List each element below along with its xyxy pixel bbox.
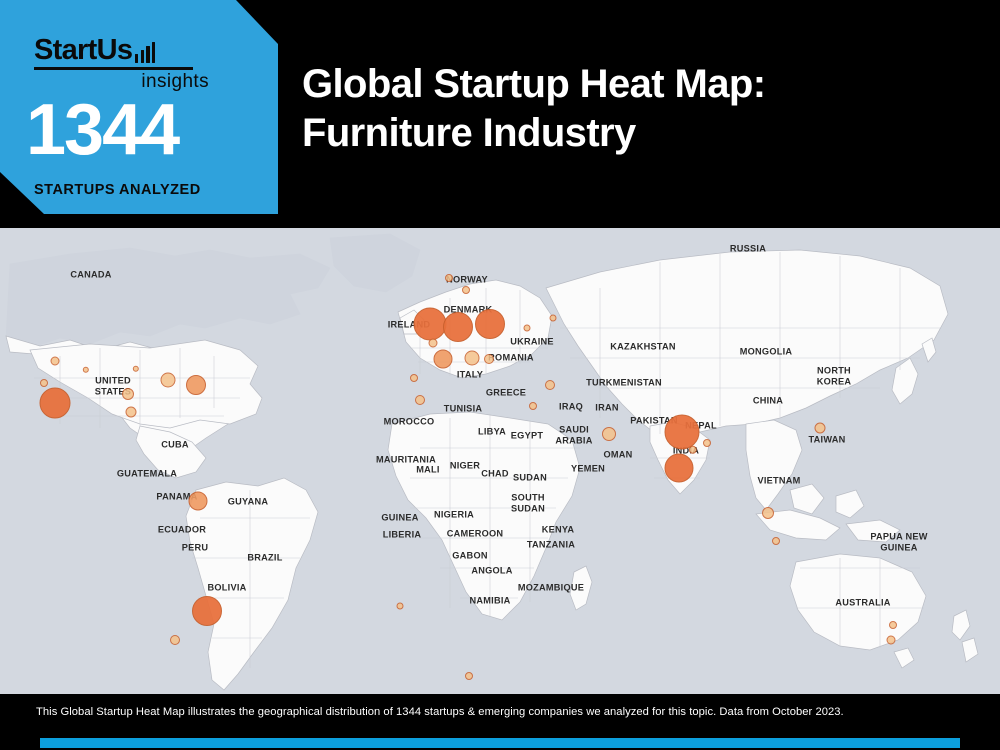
logo-underline-divider: [34, 67, 193, 70]
logo-wordmark: StartUs: [34, 36, 132, 65]
heat-bubble: [815, 423, 826, 434]
heat-bubble: [602, 427, 616, 441]
heat-bubble: [887, 636, 896, 645]
heat-bubble: [524, 325, 531, 332]
heat-bubble: [40, 379, 48, 387]
heat-bubble: [51, 357, 60, 366]
startups-analyzed-label: STARTUPS ANALYZED: [34, 182, 264, 198]
heat-bubble: [465, 672, 473, 680]
heat-bubble: [126, 407, 137, 418]
heatmap-infographic: StartUs insights 1344 STARTUPS ANALYZED …: [0, 0, 1000, 750]
heat-bubble: [889, 621, 897, 629]
startups-analyzed-count: 1344: [26, 96, 266, 164]
heat-bubble: [410, 374, 418, 382]
heat-bubble: [397, 603, 404, 610]
heat-bubble: [445, 274, 453, 282]
heat-bubble: [189, 492, 208, 511]
heat-bubble: [529, 402, 537, 410]
page-title: Global Startup Heat Map:Furniture Indust…: [302, 60, 972, 158]
heat-bubble: [762, 507, 774, 519]
heat-bubble: [122, 388, 134, 400]
heat-bubble: [186, 375, 206, 395]
world-map-vector: [0, 228, 1000, 694]
heat-bubble: [484, 354, 494, 364]
world-heat-map: CANADAUNITEDSTATESCUBAGUATEMALAPANAMAGUY…: [0, 228, 1000, 694]
bar-chart-icon: [135, 45, 155, 65]
heat-bubble: [475, 309, 505, 339]
heat-bubble: [550, 315, 557, 322]
heat-bubble: [465, 351, 480, 366]
heat-bubble: [665, 454, 694, 483]
heat-bubble: [462, 286, 470, 294]
footer-note: This Global Startup Heat Map illustrates…: [36, 706, 976, 718]
heat-bubble: [170, 635, 180, 645]
heat-bubble: [429, 339, 438, 348]
heat-bubble: [545, 380, 555, 390]
heat-bubble: [434, 350, 453, 369]
heat-bubble: [40, 388, 71, 419]
heat-bubble: [443, 312, 473, 342]
footer-accent-bar: [40, 738, 960, 748]
heat-bubble: [192, 596, 222, 626]
startus-insights-logo: StartUs insights: [34, 36, 234, 96]
heat-bubble: [665, 415, 700, 450]
heat-bubble: [414, 308, 447, 341]
header-bar: StartUs insights 1344 STARTUPS ANALYZED …: [0, 0, 1000, 228]
heat-bubble: [772, 537, 780, 545]
heat-bubble: [415, 395, 425, 405]
startup-count-badge: StartUs insights 1344 STARTUPS ANALYZED: [0, 0, 278, 214]
heat-bubble: [161, 373, 176, 388]
heat-bubble: [703, 439, 711, 447]
